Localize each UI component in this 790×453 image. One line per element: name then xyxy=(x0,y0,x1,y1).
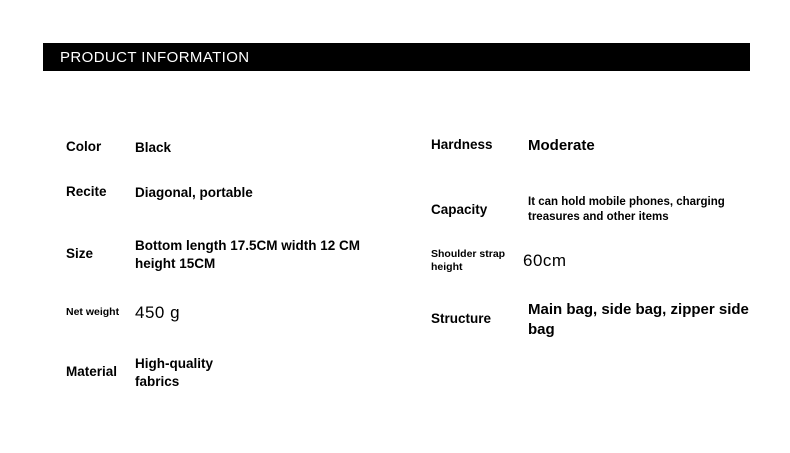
spec-row-recite: Recite Diagonal, portable xyxy=(66,184,253,202)
spec-value-capacity: It can hold mobile phones, charging trea… xyxy=(528,195,768,225)
spec-value-material: High-quality fabrics xyxy=(135,355,250,390)
spec-label-structure: Structure xyxy=(431,311,528,328)
spec-value-color: Black xyxy=(135,139,171,157)
spec-value-shoulder-strap-height: 60cm xyxy=(523,250,567,272)
spec-value-size: Bottom length 17.5CM width 12 CM height … xyxy=(135,237,381,272)
spec-row-net-weight: Net weight 450 g xyxy=(66,302,180,324)
spec-row-capacity: Capacity It can hold mobile phones, char… xyxy=(431,195,768,225)
spec-label-capacity: Capacity xyxy=(431,202,528,219)
spec-row-size: Size Bottom length 17.5CM width 12 CM he… xyxy=(66,237,381,272)
spec-row-structure: Structure Main bag, side bag, zipper sid… xyxy=(431,300,750,339)
spec-value-net-weight: 450 g xyxy=(135,302,180,324)
spec-label-hardness: Hardness xyxy=(431,137,528,154)
spec-label-size: Size xyxy=(66,246,135,263)
spec-row-hardness: Hardness Moderate xyxy=(431,136,595,156)
spec-value-hardness: Moderate xyxy=(528,136,595,156)
spec-row-color: Color Black xyxy=(66,139,171,157)
spec-label-color: Color xyxy=(66,139,135,156)
product-spec-table: Color Black Recite Diagonal, portable Si… xyxy=(0,110,790,410)
spec-label-net-weight: Net weight xyxy=(66,306,135,319)
page-title: PRODUCT INFORMATION xyxy=(60,49,250,66)
spec-label-material: Material xyxy=(66,364,135,381)
product-information-header-bar: PRODUCT INFORMATION xyxy=(43,43,750,71)
spec-value-structure: Main bag, side bag, zipper side bag xyxy=(528,300,750,339)
spec-value-recite: Diagonal, portable xyxy=(135,184,253,202)
spec-label-shoulder-strap-height: Shoulder strap height xyxy=(431,248,523,274)
spec-label-recite: Recite xyxy=(66,184,135,201)
spec-row-shoulder-strap-height: Shoulder strap height 60cm xyxy=(431,248,567,274)
spec-row-material: Material High-quality fabrics xyxy=(66,355,250,390)
